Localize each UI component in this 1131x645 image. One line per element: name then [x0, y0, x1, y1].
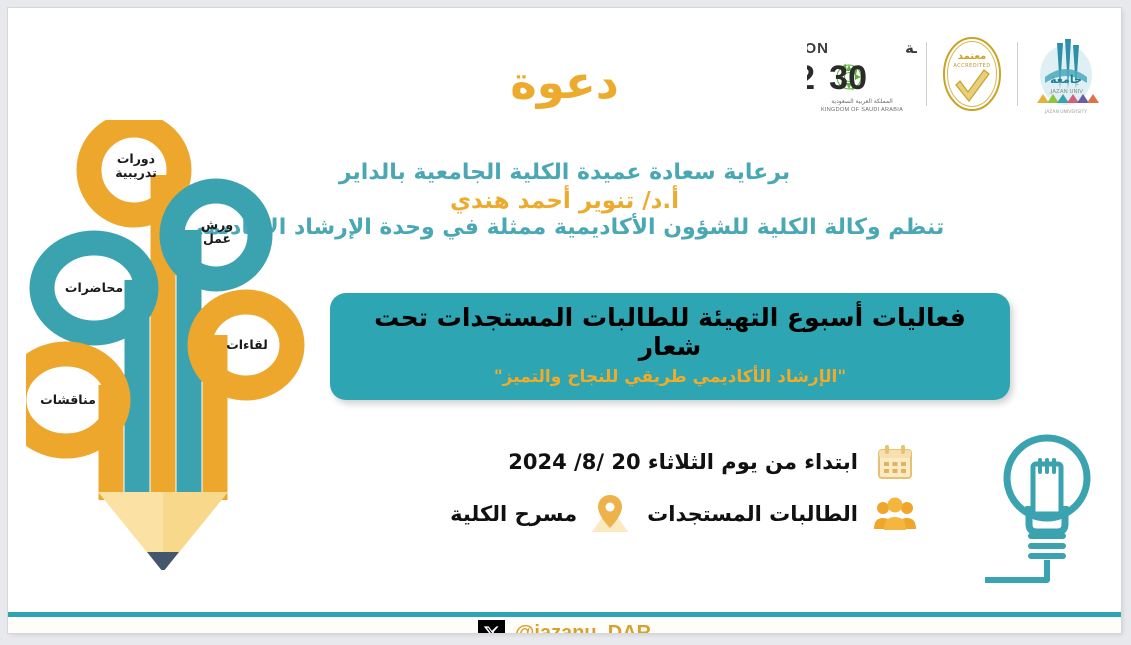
poster-page: جامعة JAZAN UNIV. JAZAN UNIVERSITY	[8, 8, 1121, 633]
page-title: دعوة	[8, 60, 1121, 105]
event-slogan: "الإرشاد الأكاديمي طريقي للنجاح والتميز"	[346, 367, 994, 387]
people-icon	[872, 497, 918, 531]
svg-text:رؤيــــة: رؤيــــة	[905, 39, 917, 57]
event-details: ابتداء من يوم الثلاثاء 20 /8/ 2024 الطال…	[408, 436, 918, 540]
poster-screenshot: جامعة JAZAN UNIV. JAZAN UNIVERSITY	[0, 0, 1131, 645]
x-twitter-icon[interactable]	[478, 620, 505, 634]
location-pin-icon	[587, 492, 633, 536]
event-date-text: ابتداء من يوم الثلاثاء 20 /8/ 2024	[508, 450, 858, 474]
calendar-icon	[872, 441, 918, 483]
svg-text:KINGDOM OF SAUDI ARABIA: KINGDOM OF SAUDI ARABIA	[821, 107, 903, 113]
location-group: مسرح الكلية	[450, 492, 633, 536]
svg-text:JAZAN UNIVERSITY: JAZAN UNIVERSITY	[1044, 109, 1087, 115]
pencil-svg	[26, 120, 336, 570]
detail-row-audience-location: الطالبات المستجدات مسرح الكلية	[408, 488, 918, 540]
pencil-infographic: دورات تدريبية ورش عمل محاضرات لقاءات منا…	[26, 120, 336, 570]
footer-social-bar: @jazanu_DAR	[8, 617, 1121, 633]
social-handle[interactable]: @jazanu_DAR	[515, 622, 651, 634]
audience-text: الطالبات المستجدات	[647, 502, 858, 526]
location-text: مسرح الكلية	[450, 502, 577, 526]
svg-text:VISION: VISION	[807, 40, 829, 57]
event-banner: فعاليات أسبوع التهيئة للطالبات المستجدات…	[330, 293, 1010, 400]
event-title: فعاليات أسبوع التهيئة للطالبات المستجدات…	[346, 304, 994, 362]
detail-row-date: ابتداء من يوم الثلاثاء 20 /8/ 2024	[408, 436, 918, 488]
lightbulb-graphic	[985, 420, 1115, 595]
